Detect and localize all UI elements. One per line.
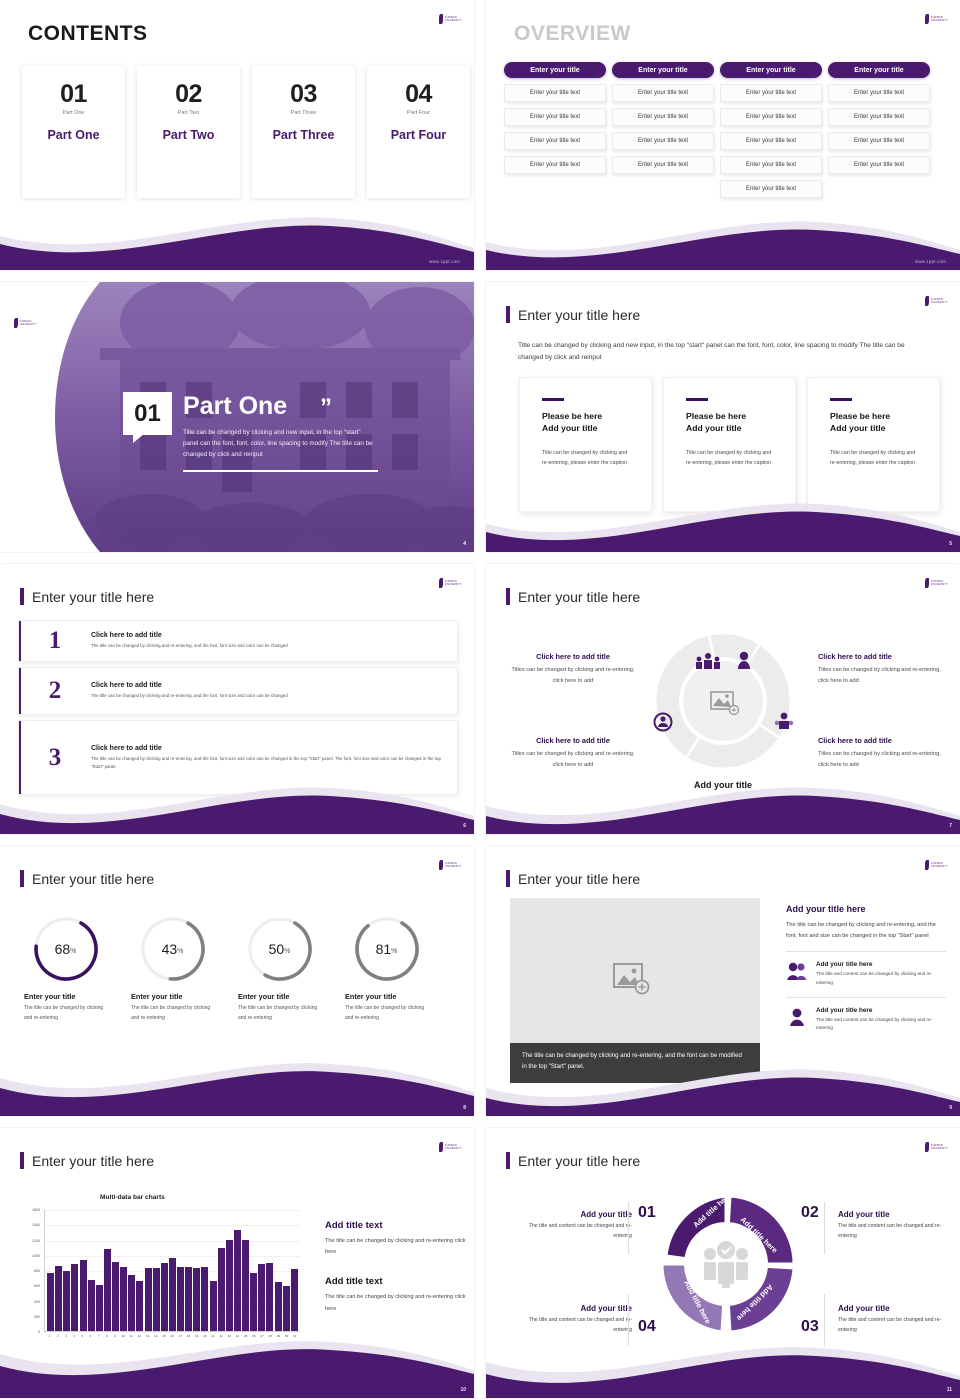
ring-title: Enter your title: [119, 992, 226, 1001]
logo-line-2: UNIVERSITY: [931, 1147, 948, 1150]
logo-mark-icon: [925, 860, 929, 870]
item-title: Add your title: [512, 1304, 632, 1313]
item-title: Add your title: [838, 1304, 958, 1313]
chart-x-tick: 2: [54, 1334, 61, 1338]
chart-bar: [96, 1285, 103, 1331]
card-title-line-1: Please be here: [686, 410, 775, 422]
ring-unit: %: [70, 948, 76, 955]
chart-bar: [201, 1267, 208, 1331]
brand-logo: FURMAN UNIVERSITY: [925, 14, 948, 24]
progress-ring: 50%: [245, 914, 315, 984]
overview-text-box[interactable]: Enter your title text: [612, 156, 714, 174]
overview-text-box[interactable]: Enter your title text: [828, 108, 930, 126]
label-title: Click here to add title: [818, 736, 944, 745]
overview-text-box[interactable]: Enter your title text: [504, 156, 606, 174]
quote-mark-icon: ”: [320, 394, 332, 422]
card-title-line-2: Add your title: [830, 422, 919, 434]
slide-header: Enter your title here: [506, 306, 640, 323]
logo-line-2: UNIVERSITY: [931, 865, 948, 868]
page-title: Enter your title here: [32, 1153, 154, 1169]
card-accent-dash: [542, 398, 564, 401]
chart-bar: [128, 1275, 135, 1331]
watermark: www.1ppt.com: [915, 259, 946, 264]
overview-text-box[interactable]: Enter your title text: [504, 108, 606, 126]
page-number: 11: [947, 1387, 952, 1393]
overview-text-box[interactable]: Enter your title text: [720, 108, 822, 126]
cycle-text-04[interactable]: Add your title The title and content can…: [512, 1304, 632, 1335]
ring-unit: %: [391, 948, 397, 955]
row-caption: The title can be changed by clicking and…: [91, 755, 443, 770]
label-caption: Titles can be changed by clicking and re…: [510, 665, 636, 687]
page-number: 4: [463, 541, 466, 547]
chart-x-tick: 7: [95, 1334, 102, 1338]
card-subtitle: Part Three: [252, 110, 355, 116]
cycle-text-02[interactable]: Add your title The title and content can…: [838, 1210, 958, 1241]
ring-title: Enter your title: [333, 992, 440, 1001]
label-caption: Titles can be changed by clicking and re…: [510, 749, 636, 771]
contents-card[interactable]: 04 Part Four Part Four: [367, 66, 470, 198]
page-title: Enter your title here: [32, 589, 154, 605]
logo-line-2: UNIVERSITY: [445, 865, 462, 868]
section-number-badge: 01: [123, 392, 172, 435]
card-number: 02: [137, 82, 240, 107]
right-content-panel: Add your title here The title can be cha…: [786, 904, 946, 1033]
page-number: 10: [460, 1387, 466, 1393]
ring-caption: The title can be changed by clicking and…: [226, 1004, 333, 1023]
title-accent-bar: [506, 1152, 510, 1169]
list-item[interactable]: 3 Click here to add title The title can …: [18, 720, 458, 795]
divider-rule: [183, 470, 378, 472]
info-card[interactable]: Please be here Add your title Title can …: [807, 377, 940, 512]
divider: [628, 1294, 629, 1346]
page-number: 7: [949, 823, 952, 829]
ring-caption: The title can be changed by clicking and…: [333, 1004, 440, 1023]
slide-three-cards: Enter your title here FURMAN UNIVERSITY …: [486, 282, 960, 552]
row-title: Click here to add title: [91, 745, 443, 752]
numbered-row-list: 1 Click here to add title The title can …: [18, 620, 458, 800]
logo-mark-icon: [925, 14, 929, 24]
brand-logo: FURMAN UNIVERSITY: [14, 318, 37, 328]
page-title: OVERVIEW: [514, 22, 631, 46]
logo-mark-icon: [439, 1142, 443, 1152]
cycle-number-03: 03: [801, 1318, 819, 1336]
wave-decoration: [0, 192, 474, 270]
chart-bar: [71, 1264, 78, 1331]
overview-text-box[interactable]: Enter your title text: [612, 108, 714, 126]
brand-logo: FURMAN UNIVERSITY: [925, 1142, 948, 1152]
chart-bar: [104, 1249, 111, 1331]
chart-bar: [258, 1264, 265, 1331]
label-caption: Titles can be changed by clicking and re…: [818, 665, 944, 687]
chart-x-tick: 4: [71, 1334, 78, 1338]
chart-x-tick: 27: [258, 1334, 265, 1338]
logo-mark-icon: [925, 1142, 929, 1152]
users-icon: [786, 961, 808, 981]
slide-image-and-list: Enter your title here FURMAN UNIVERSITY …: [486, 846, 960, 1116]
chart-x-tick: 15: [160, 1334, 167, 1338]
chart-plot: [44, 1210, 300, 1332]
brand-logo: FURMAN UNIVERSITY: [439, 14, 462, 24]
page-number: 5: [949, 541, 952, 547]
chart-bar: [47, 1273, 54, 1331]
chart-bar: [250, 1273, 257, 1331]
logo-mark-icon: [439, 860, 443, 870]
title-accent-bar: [506, 588, 510, 605]
cycle-text-01[interactable]: Add your title The title and content can…: [512, 1210, 632, 1241]
chart-bar: [242, 1240, 249, 1332]
slide-numbered-list: Enter your title here FURMAN UNIVERSITY …: [0, 564, 474, 834]
chart-x-tick: 13: [144, 1334, 151, 1338]
row-caption: The title can be changed by clicking and…: [91, 692, 443, 699]
overview-text-box[interactable]: Enter your title text: [504, 132, 606, 150]
chart-x-tick: 31: [291, 1334, 298, 1338]
ring-item[interactable]: 68% Enter your title The title can be ch…: [12, 914, 119, 1023]
chart-y-tick: 1200: [32, 1239, 40, 1243]
lead-paragraph: Title can be changed by clicking and new…: [518, 340, 918, 364]
chart-bar: [234, 1230, 241, 1331]
section-body-text: Title can be changed by clicking and new…: [183, 427, 373, 460]
logo-line-2: UNIVERSITY: [445, 19, 462, 22]
logo-line-2: UNIVERSITY: [931, 301, 948, 304]
overview-column: Enter your title Enter your title text E…: [720, 62, 822, 198]
page-number: 9: [949, 1105, 952, 1111]
ring-number: 50: [269, 941, 285, 957]
donut-center-title: Add your title: [486, 780, 960, 790]
ring-item[interactable]: 50% Enter your title The title can be ch…: [226, 914, 333, 1023]
chart-bar: [193, 1268, 200, 1331]
title-accent-bar: [20, 588, 24, 605]
chart-area: 02004006008001000120014001600 1234567891…: [18, 1210, 300, 1350]
overview-text-box[interactable]: Enter your title text: [720, 180, 822, 198]
card-title: Part Two: [137, 128, 240, 142]
title-accent-bar: [20, 870, 24, 887]
card-caption: Title can be changed by clicking and re-…: [686, 449, 775, 469]
item-caption: The title and content can be changed by …: [816, 970, 946, 987]
slide-header: Enter your title here: [506, 870, 640, 887]
chart-x-tick: 1: [46, 1334, 53, 1338]
block-heading: Add title text: [325, 1276, 467, 1287]
chart-y-tick: 0: [38, 1330, 40, 1334]
ring-list: 68% Enter your title The title can be ch…: [12, 914, 440, 1023]
item-title: Add your title here: [816, 961, 946, 968]
slide-bar-chart: Enter your title here FURMAN UNIVERSITY …: [0, 1128, 474, 1398]
block-paragraph: The title can be changed by clicking and…: [325, 1292, 467, 1314]
slide-percent-rings: Enter your title here FURMAN UNIVERSITY …: [0, 846, 474, 1116]
slide-header: Enter your title here: [506, 588, 640, 605]
card-title-line-1: Please be here: [830, 410, 919, 422]
panel-heading: Add your title here: [786, 904, 946, 914]
donut-diagram: [638, 626, 808, 776]
chart-x-tick: 14: [152, 1334, 159, 1338]
chart-bar: [80, 1260, 87, 1331]
page-title: Enter your title here: [518, 1153, 640, 1169]
overview-grid: Enter your title Enter your title text E…: [504, 62, 930, 198]
chart-title: Multi-data bar charts: [100, 1194, 165, 1201]
cycle-diagram: Add title here Add title here Add title …: [648, 1186, 804, 1342]
cycle-number-01: 01: [638, 1204, 656, 1222]
page-title: Enter your title here: [518, 589, 640, 605]
card-subtitle: Part One: [22, 110, 125, 116]
chart-x-tick: 20: [201, 1334, 208, 1338]
card-number: 04: [367, 82, 470, 107]
chart-bar: [112, 1262, 119, 1331]
label-title: Click here to add title: [510, 736, 636, 745]
chart-x-tick: 22: [218, 1334, 225, 1338]
chart-x-tick: 9: [111, 1334, 118, 1338]
chart-bar: [226, 1240, 233, 1332]
logo-mark-icon: [439, 578, 443, 588]
ring-number: 68: [55, 941, 71, 957]
slide-section-divider: FURMAN UNIVERSITY 01 Part One ” Title ca…: [0, 282, 474, 552]
chart-y-tick: 200: [34, 1315, 40, 1319]
block-paragraph: The title can be changed by clicking and…: [325, 1236, 467, 1258]
chart-x-tick: 11: [128, 1334, 135, 1338]
divider: [824, 1202, 825, 1254]
card-subtitle: Part Two: [137, 110, 240, 116]
chart-bar: [291, 1269, 298, 1331]
chart-x-tick: 23: [226, 1334, 233, 1338]
row-title: Click here to add title: [91, 682, 443, 689]
wave-decoration: [0, 1038, 474, 1116]
overview-pill-button[interactable]: Enter your title: [612, 62, 714, 78]
panel-paragraph: The title can be changed by clicking and…: [786, 920, 946, 942]
chart-x-tick: 8: [103, 1334, 110, 1338]
overview-text-box[interactable]: Enter your title text: [828, 132, 930, 150]
card-caption: Title can be changed by clicking and re-…: [830, 449, 919, 469]
page-title: Enter your title here: [518, 871, 640, 887]
chart-bar: [136, 1281, 143, 1331]
card-caption: Title can be changed by clicking and re-…: [542, 449, 631, 469]
chart-bar: [283, 1286, 290, 1331]
chart-bar: [153, 1268, 160, 1331]
brand-logo: FURMAN UNIVERSITY: [925, 296, 948, 306]
chart-x-tick: 16: [169, 1334, 176, 1338]
cycle-number-04: 04: [638, 1318, 656, 1336]
page-title: Enter your title here: [518, 307, 640, 323]
card-title: Part Four: [367, 128, 470, 142]
overview-text-box[interactable]: Enter your title text: [612, 84, 714, 102]
page-number: 6: [463, 823, 466, 829]
donut-label-bottom-left[interactable]: Click here to add title Titles can be ch…: [510, 736, 636, 771]
chart-x-tick: 3: [62, 1334, 69, 1338]
list-item[interactable]: Add your title here The title and conten…: [786, 951, 946, 987]
row-caption: The title can be changed by clicking and…: [91, 642, 443, 649]
overview-pill-button[interactable]: Enter your title: [504, 62, 606, 78]
info-card[interactable]: Please be here Add your title Title can …: [663, 377, 796, 512]
logo-line-2: UNIVERSITY: [445, 1147, 462, 1150]
chart-y-tick: 400: [34, 1300, 40, 1304]
ring-title: Enter your title: [12, 992, 119, 1001]
ring-value: 68%: [31, 914, 101, 984]
list-item[interactable]: Add your title here The title and conten…: [786, 997, 946, 1033]
logo-line-2: UNIVERSITY: [931, 583, 948, 586]
overview-text-box[interactable]: Enter your title text: [720, 156, 822, 174]
contents-card[interactable]: 02 Part Two Part Two: [137, 66, 240, 198]
wave-decoration: [486, 192, 960, 270]
donut-label-top-right[interactable]: Click here to add title Titles can be ch…: [818, 652, 944, 687]
overview-text-box[interactable]: Enter your title text: [720, 132, 822, 150]
contents-card-list: 01 Part One Part One 02 Part Two Part Tw…: [22, 66, 470, 198]
card-number: 01: [22, 82, 125, 107]
overview-pill-button[interactable]: Enter your title: [828, 62, 930, 78]
chart-x-tick: 25: [242, 1334, 249, 1338]
section-title: Part One: [183, 392, 287, 421]
overview-column: Enter your title Enter your title text E…: [612, 62, 714, 198]
chart-bar: [177, 1267, 184, 1331]
list-item[interactable]: 1 Click here to add title The title can …: [18, 620, 458, 662]
chart-y-tick: 600: [34, 1284, 40, 1288]
chart-y-axis: 02004006008001000120014001600: [18, 1210, 42, 1332]
donut-label-top-left[interactable]: Click here to add title Titles can be ch…: [510, 652, 636, 687]
divider: [824, 1294, 825, 1346]
chart-bar: [266, 1263, 273, 1331]
slide-header: Enter your title here: [20, 1152, 154, 1169]
chart-x-tick: 28: [267, 1334, 274, 1338]
overview-text-box[interactable]: Enter your title text: [828, 156, 930, 174]
card-title-line-1: Please be here: [542, 410, 631, 422]
brand-logo: FURMAN UNIVERSITY: [439, 578, 462, 588]
row-number: 2: [19, 677, 91, 705]
brand-logo: FURMAN UNIVERSITY: [925, 578, 948, 588]
ring-value: 43%: [138, 914, 208, 984]
logo-mark-icon: [14, 318, 18, 328]
chart-bar: [63, 1271, 70, 1331]
contents-card[interactable]: 01 Part One Part One: [22, 66, 125, 198]
slide-cycle-diagram: Enter your title here FURMAN UNIVERSITY: [486, 1128, 960, 1398]
card-accent-dash: [830, 398, 852, 401]
overview-text-box[interactable]: Enter your title text: [612, 132, 714, 150]
brand-logo: FURMAN UNIVERSITY: [439, 860, 462, 870]
page-title: CONTENTS: [28, 22, 148, 46]
user-icon: [786, 1007, 808, 1027]
progress-ring: 68%: [31, 914, 101, 984]
chart-bar: [120, 1267, 127, 1331]
chart-x-tick: 26: [250, 1334, 257, 1338]
chart-side-text: Add title text The title can be changed …: [325, 1220, 467, 1315]
label-title: Click here to add title: [510, 652, 636, 661]
chart-bar: [88, 1280, 95, 1331]
overview-column: Enter your title Enter your title text E…: [504, 62, 606, 198]
watermark: www.1ppt.com: [429, 259, 460, 264]
overview-text-box[interactable]: Enter your title text: [504, 84, 606, 102]
chart-y-tick: 1000: [32, 1254, 40, 1258]
slide-donut-diagram: Enter your title here FURMAN UNIVERSITY: [486, 564, 960, 834]
chart-x-tick: 5: [79, 1334, 86, 1338]
progress-ring: 81%: [352, 914, 422, 984]
slide-header: Enter your title here: [506, 1152, 640, 1169]
overview-column: Enter your title Enter your title text E…: [828, 62, 930, 198]
slide-header: Enter your title here: [20, 588, 154, 605]
donut-label-bottom-right[interactable]: Click here to add title Titles can be ch…: [818, 736, 944, 771]
chart-bar: [169, 1258, 176, 1331]
item-caption: The title and content can be changed by …: [816, 1016, 946, 1033]
item-title: Add your title here: [816, 1007, 946, 1014]
chart-y-tick: 1400: [32, 1223, 40, 1227]
divider: [628, 1202, 629, 1254]
logo-mark-icon: [925, 578, 929, 588]
page-number: 8: [463, 1105, 466, 1111]
chart-bar: [161, 1263, 168, 1331]
chart-bar: [275, 1282, 282, 1331]
card-title-line-2: Add your title: [686, 422, 775, 434]
brand-logo: FURMAN UNIVERSITY: [925, 860, 948, 870]
chart-x-tick: 18: [185, 1334, 192, 1338]
brand-logo: FURMAN UNIVERSITY: [439, 1142, 462, 1152]
ring-value: 81%: [352, 914, 422, 984]
chart-x-tick: 10: [120, 1334, 127, 1338]
ring-item[interactable]: 81% Enter your title The title can be ch…: [333, 914, 440, 1023]
card-number: 03: [252, 82, 355, 107]
title-accent-bar: [506, 870, 510, 887]
item-caption: The title and content can be changed and…: [512, 1316, 632, 1335]
chart-x-tick: 17: [177, 1334, 184, 1338]
overview-text-box[interactable]: Enter your title text: [828, 84, 930, 102]
ring-item[interactable]: 43% Enter your title The title can be ch…: [119, 914, 226, 1023]
logo-mark-icon: [439, 14, 443, 24]
ring-value: 50%: [245, 914, 315, 984]
slide-header: Enter your title here: [20, 870, 154, 887]
ring-number: 43: [162, 941, 178, 957]
chart-x-tick: 30: [283, 1334, 290, 1338]
card-list: Please be here Add your title Title can …: [519, 377, 940, 512]
card-subtitle: Part Four: [367, 110, 470, 116]
item-caption: The title and content can be changed and…: [512, 1222, 632, 1241]
contents-card[interactable]: 03 Part Three Part Three: [252, 66, 355, 198]
ring-unit: %: [284, 948, 290, 955]
card-title-line-2: Add your title: [542, 422, 631, 434]
label-title: Click here to add title: [818, 652, 944, 661]
chart-x-tick: 12: [136, 1334, 143, 1338]
chart-bar: [210, 1281, 217, 1331]
ring-caption: The title can be changed by clicking and…: [119, 1004, 226, 1023]
chart-y-tick: 1600: [32, 1208, 40, 1212]
chart-x-tick: 24: [234, 1334, 241, 1338]
cycle-text-03[interactable]: Add your title The title and content can…: [838, 1304, 958, 1335]
chart-y-tick: 800: [34, 1269, 40, 1273]
chart-x-axis: 1234567891011121314151617181920212223242…: [44, 1334, 300, 1338]
overview-text-box[interactable]: Enter your title text: [720, 84, 822, 102]
chart-x-tick: 6: [87, 1334, 94, 1338]
image-caption: The title can be changed by clicking and…: [510, 1043, 760, 1083]
row-number: 1: [19, 627, 91, 655]
item-title: Add your title: [838, 1210, 958, 1219]
row-number: 3: [19, 744, 91, 772]
logo-line-2: UNIVERSITY: [445, 583, 462, 586]
ring-title: Enter your title: [226, 992, 333, 1001]
logo-line-2: UNIVERSITY: [20, 323, 37, 326]
row-title: Click here to add title: [91, 632, 443, 639]
ring-number: 81: [376, 941, 392, 957]
page-title: Enter your title here: [32, 871, 154, 887]
ring-caption: The title can be changed by clicking and…: [12, 1004, 119, 1023]
logo-mark-icon: [925, 296, 929, 306]
overview-pill-button[interactable]: Enter your title: [720, 62, 822, 78]
chart-bar: [218, 1248, 225, 1331]
slide-deck: CONTENTS FURMAN UNIVERSITY 01 Part One P…: [0, 0, 960, 1398]
item-caption: The title and content can be changed and…: [838, 1222, 958, 1241]
item-title: Add your title: [512, 1210, 632, 1219]
chart-x-tick: 19: [193, 1334, 200, 1338]
card-title: Part One: [22, 128, 125, 142]
info-card[interactable]: Please be here Add your title Title can …: [519, 377, 652, 512]
ring-unit: %: [177, 948, 183, 955]
slide-overview: OVERVIEW FURMAN UNIVERSITY Enter your ti…: [486, 0, 960, 270]
title-accent-bar: [20, 1152, 24, 1169]
chart-bar: [55, 1266, 62, 1331]
chart-bar: [185, 1267, 192, 1331]
list-item[interactable]: 2 Click here to add title The title can …: [18, 667, 458, 715]
label-caption: Titles can be changed by clicking and re…: [818, 749, 944, 771]
